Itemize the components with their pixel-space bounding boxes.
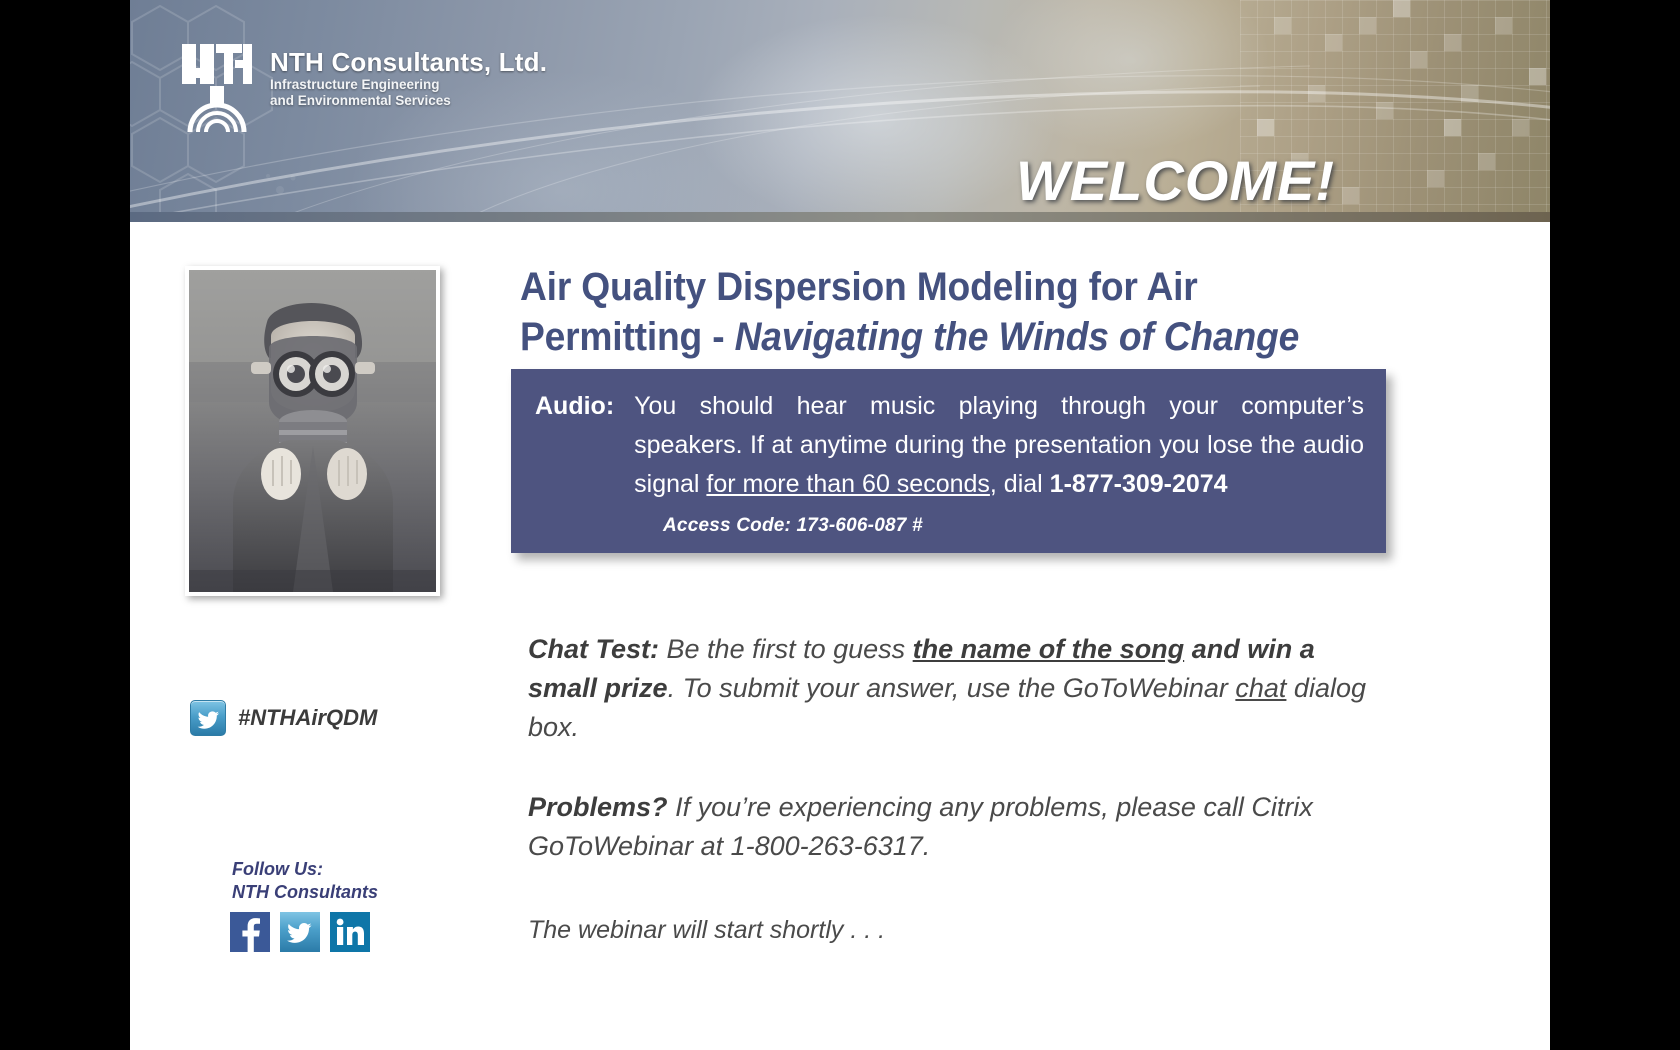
start-notice: The webinar will start shortly . . . [528,912,1388,948]
twitter-hashtag-row: #NTHAirQDM [190,700,377,736]
chat-test-part2: . To submit your answer, use the GoToWeb… [668,673,1236,703]
company-tagline-line1: Infrastructure Engineering [270,77,547,93]
audio-label: Audio: [535,387,634,503]
page-title: Air Quality Dispersion Modeling for Air … [520,262,1311,363]
banner-bottom-strip [130,212,1550,222]
welcome-heading: WELCOME! [1016,148,1335,213]
chat-test-underlined-word: chat [1235,673,1286,703]
chat-test-heading: Chat Test: [528,634,659,664]
audio-instructions-box: Audio: You should hear music playing thr… [511,369,1386,553]
title-line-2-italic: Navigating the Winds of Change [735,315,1300,359]
follow-us-company: NTH Consultants [232,881,378,904]
gas-mask-child-photo [189,270,436,592]
linkedin-icon[interactable] [330,912,370,952]
chat-test-part1: Be the first to guess [667,634,913,664]
audio-text-underlined: for more than 60 seconds [706,470,990,498]
social-links-row [230,912,370,952]
slide-canvas: NTH Consultants, Ltd. Infrastructure Eng… [130,0,1550,1050]
twitter-handle-label: #NTHAirQDM [238,705,377,731]
company-name: NTH Consultants, Ltd. [270,48,547,77]
nth-logo-mark-icon [180,38,254,136]
speaker-photo-frame [185,266,440,596]
access-code-label: Access Code: 173-606-087 # [663,515,1364,537]
chat-test-paragraph: Chat Test: Be the first to guess the nam… [528,630,1388,747]
audio-text-part2: , dial [990,470,1050,498]
facebook-icon[interactable] [230,912,270,952]
company-tagline-line2: and Environmental Services [270,93,547,109]
title-line-1: Air Quality Dispersion Modeling for Air [520,265,1198,309]
header-banner: NTH Consultants, Ltd. Infrastructure Eng… [130,0,1550,222]
audio-phone-number: 1-877-309-2074 [1050,470,1228,498]
follow-us-label: Follow Us: [232,858,378,881]
problems-paragraph: Problems? If you’re experiencing any pro… [528,788,1388,866]
company-logo: NTH Consultants, Ltd. Infrastructure Eng… [180,38,547,136]
title-line-2-plain: Permitting - [520,315,735,359]
twitter-icon[interactable] [280,912,320,952]
audio-instructions-text: You should hear music playing through yo… [634,387,1364,503]
chat-test-bold-underlined: the name of the song [913,634,1185,664]
problems-heading: Problems? [528,792,668,822]
twitter-bird-icon[interactable] [190,700,226,736]
follow-us-block: Follow Us: NTH Consultants [232,858,378,903]
